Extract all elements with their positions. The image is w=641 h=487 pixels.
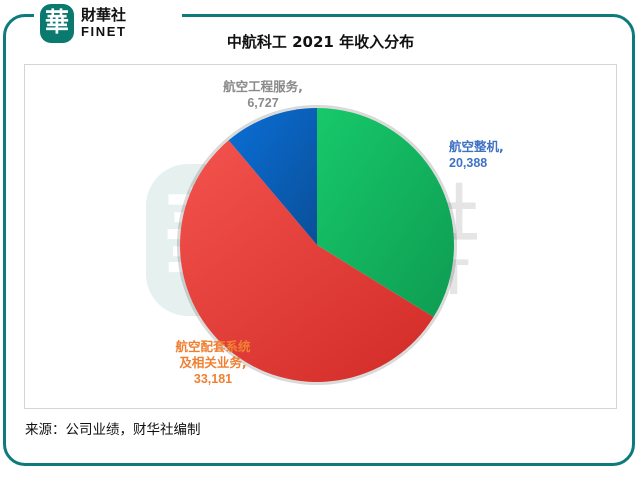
source-note: 来源：公司业绩，财华社编制 <box>25 418 201 438</box>
data-label-aircraft: 航空整机, 20,388 <box>449 139 569 171</box>
data-label-engineering-name: 航空工程服务, <box>193 79 333 95</box>
data-label-systems: 航空配套系统 及相关业务, 33,181 <box>133 339 293 387</box>
data-label-aircraft-value: 20,388 <box>449 155 569 171</box>
brand-name-cn: 財華社 <box>81 8 127 23</box>
pie-chart <box>25 65 617 409</box>
data-label-systems-value: 33,181 <box>133 371 293 387</box>
data-label-systems-name-line2: 及相关业务, <box>133 355 293 371</box>
data-label-systems-name-line1: 航空配套系统 <box>133 339 293 355</box>
data-label-aircraft-name: 航空整机, <box>449 139 569 155</box>
data-label-engineering: 航空工程服务, 6,727 <box>193 79 333 111</box>
chart-plot-area: 華 財華社 FINET <box>24 64 617 409</box>
pie-chart-svg <box>25 65 617 409</box>
data-label-engineering-value: 6,727 <box>193 95 333 111</box>
chart-title: 中航科工 2021 年收入分布 <box>0 31 641 52</box>
